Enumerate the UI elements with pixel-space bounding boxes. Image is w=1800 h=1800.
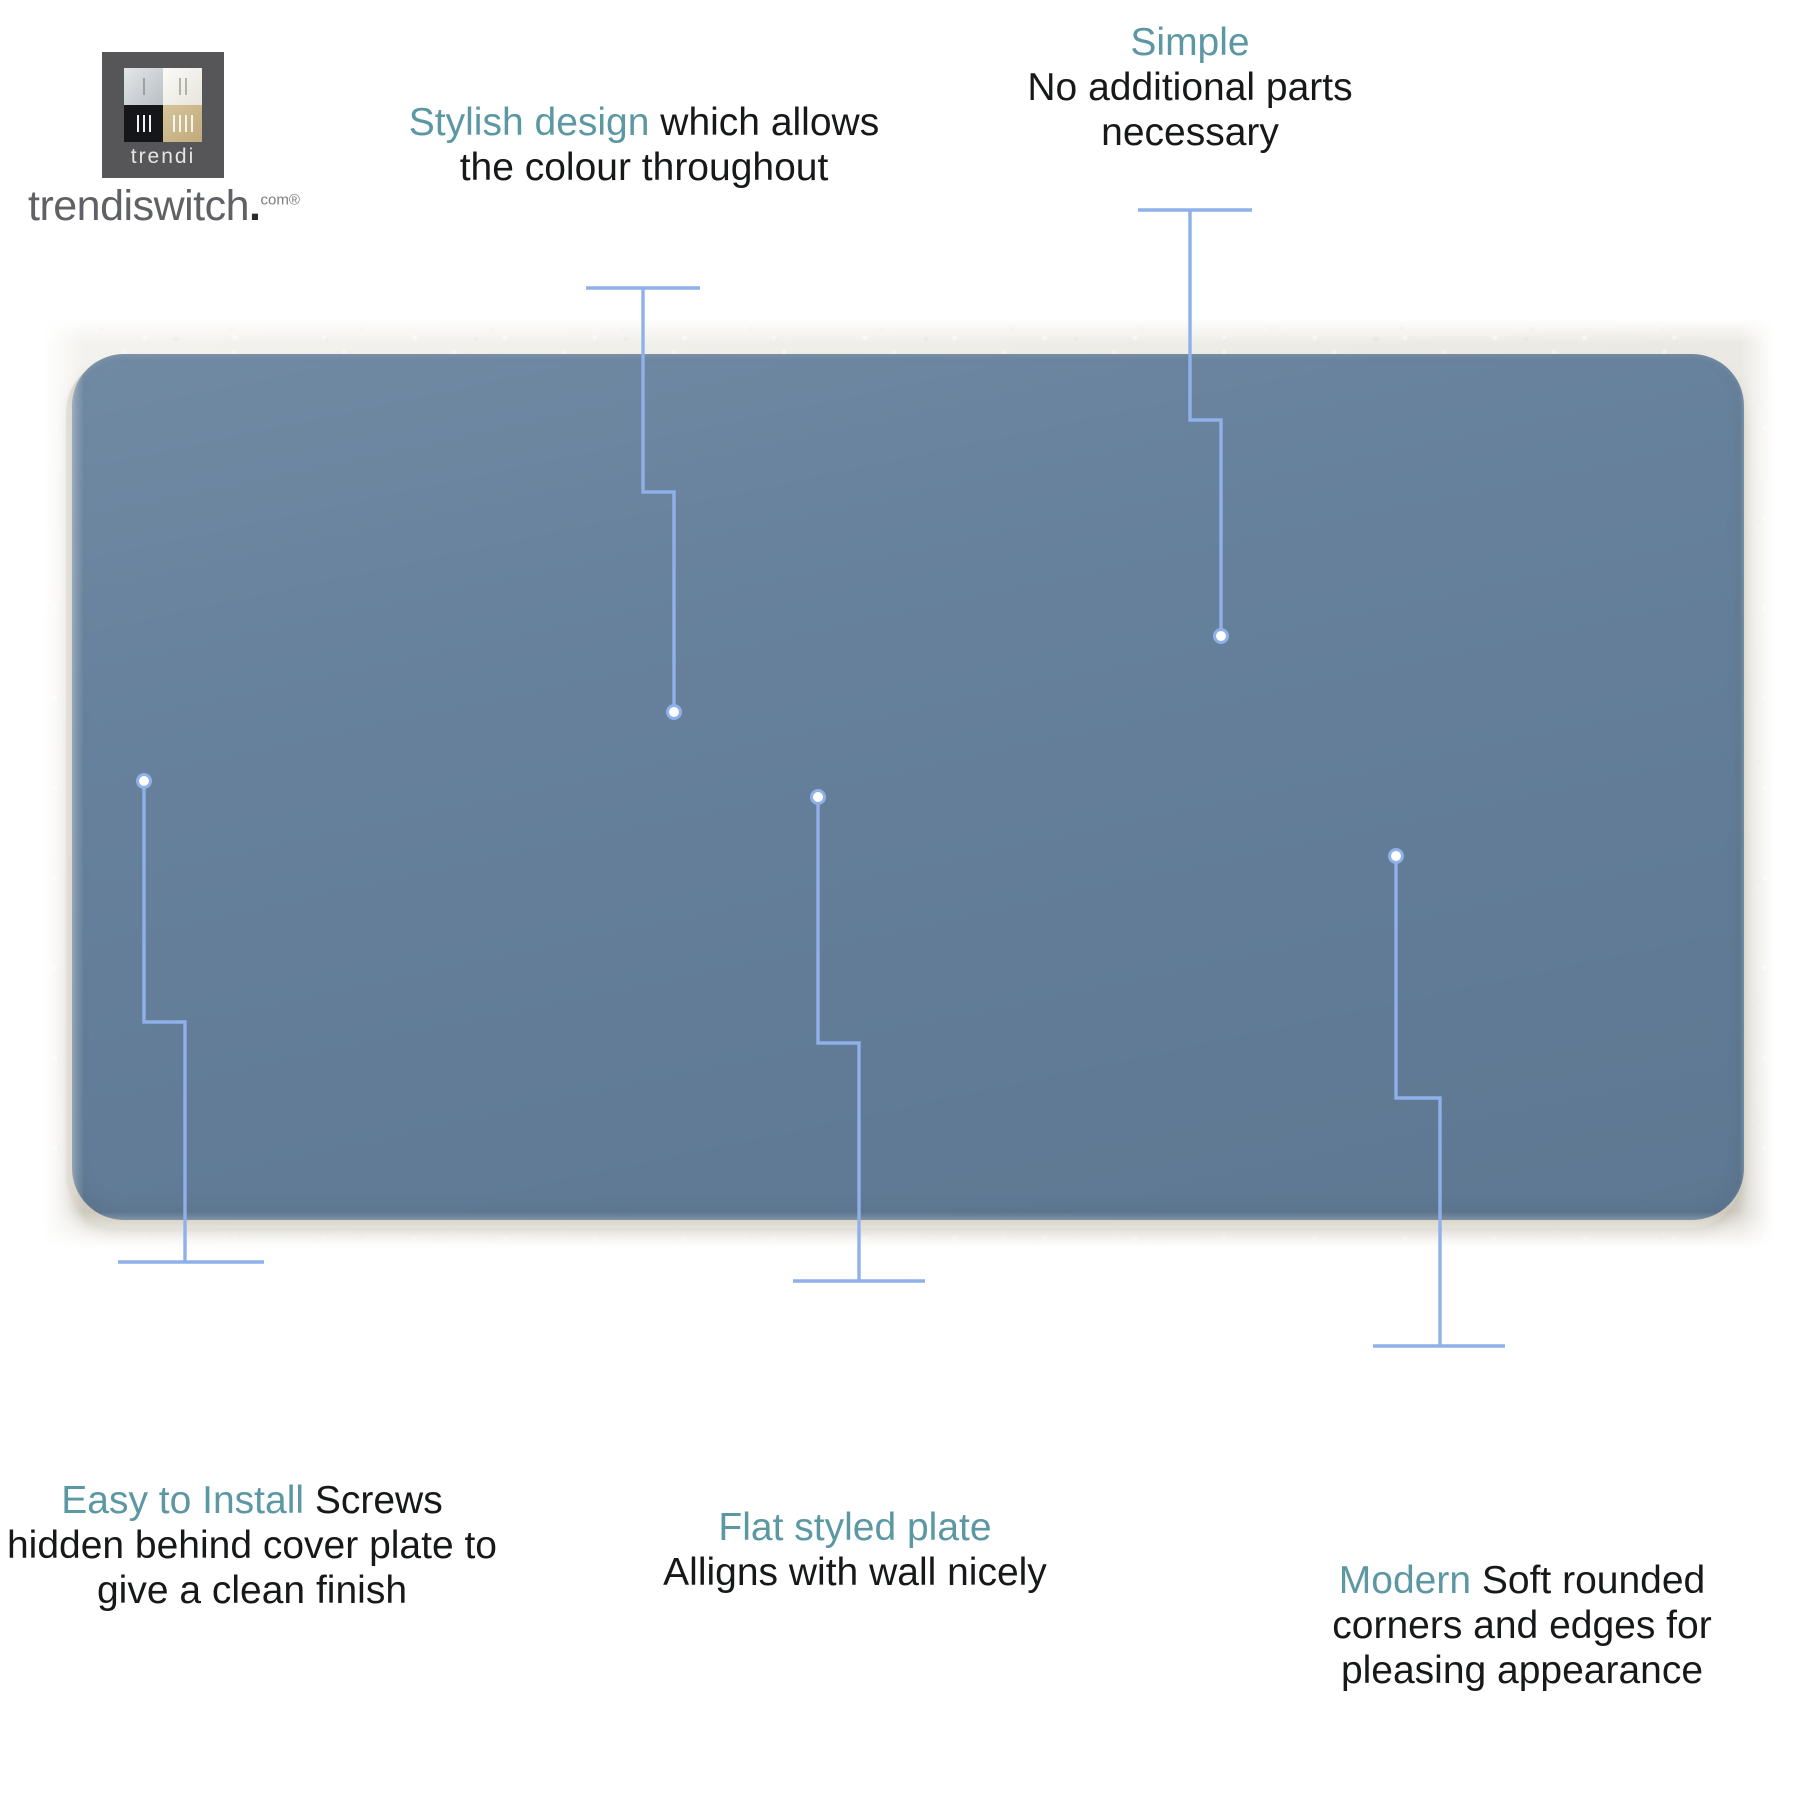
logo-swatch-grid bbox=[124, 68, 202, 142]
callout-modern-highlight: Modern bbox=[1339, 1559, 1471, 1602]
brand-wordmark: trendiswitch.com® bbox=[28, 182, 300, 231]
wordmark-dot: . bbox=[249, 182, 260, 230]
callout-easy-to-install-highlight: Easy to Install bbox=[61, 1479, 304, 1522]
callout-simple-highlight: Simple bbox=[1130, 21, 1249, 64]
photo-fade-bottom bbox=[44, 1212, 1774, 1248]
callout-simple-body: No additional parts necessary bbox=[1027, 66, 1352, 154]
logo-mark-wordmark: trendi bbox=[102, 145, 224, 169]
logo-swatch-silver bbox=[124, 68, 163, 105]
infographic-canvas: trendi trendiswitch.com® Stylish design … bbox=[0, 0, 1800, 1800]
callout-flat-styled-plate: Flat styled plate Alligns with wall nice… bbox=[655, 1505, 1055, 1595]
product-photo bbox=[44, 318, 1774, 1248]
callout-flat-styled-plate-body: Alligns with wall nicely bbox=[663, 1551, 1047, 1594]
plate-sheen bbox=[72, 354, 1744, 1220]
logo-swatch-gold bbox=[163, 105, 202, 142]
callout-stylish-design: Stylish design which allows the colour t… bbox=[404, 100, 884, 190]
callout-stylish-design-highlight: Stylish design bbox=[409, 101, 650, 144]
callout-simple: Simple No additional parts necessary bbox=[945, 20, 1435, 156]
logo-swatch-white bbox=[163, 68, 202, 105]
callout-flat-styled-plate-highlight: Flat styled plate bbox=[718, 1506, 991, 1549]
trendi-logo-mark: trendi bbox=[102, 52, 224, 178]
photo-fade-right bbox=[1740, 318, 1774, 1248]
callout-modern: Modern Soft rounded corners and edges fo… bbox=[1272, 1558, 1772, 1694]
wordmark-text: trendiswitch bbox=[28, 182, 249, 230]
wordmark-superscript: com® bbox=[260, 192, 299, 209]
cover-plate bbox=[72, 354, 1744, 1220]
photo-fade-left bbox=[44, 318, 84, 1248]
logo-swatch-black bbox=[124, 105, 163, 142]
callout-easy-to-install: Easy to Install Screws hidden behind cov… bbox=[2, 1478, 502, 1614]
photo-fade-top bbox=[44, 318, 1774, 344]
